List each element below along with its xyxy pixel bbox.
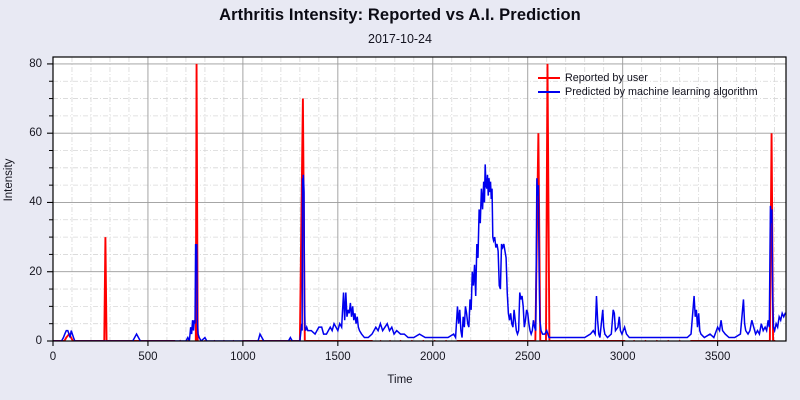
x-tick-label: 3000 <box>610 351 636 363</box>
plot-canvas <box>0 0 800 400</box>
x-tick-label: 1500 <box>325 351 351 363</box>
x-axis-label: Time <box>0 374 800 386</box>
y-tick-label: 40 <box>8 196 42 208</box>
x-tick-label: 2500 <box>515 351 541 363</box>
chart-figure: Arthritis Intensity: Reported vs A.I. Pr… <box>0 0 800 400</box>
legend-swatch-icon <box>538 77 560 79</box>
legend-label: Predicted by machine learning algorithm <box>565 86 758 98</box>
legend-swatch-icon <box>538 91 560 93</box>
chart-title: Arthritis Intensity: Reported vs A.I. Pr… <box>0 6 800 25</box>
y-tick-label: 20 <box>8 266 42 278</box>
y-tick-label: 0 <box>8 335 42 347</box>
x-tick-label: 0 <box>50 351 56 363</box>
x-tick-label: 1000 <box>230 351 256 363</box>
x-tick-label: 2000 <box>420 351 446 363</box>
x-tick-label: 500 <box>138 351 157 363</box>
x-tick-label: 3500 <box>705 351 731 363</box>
y-tick-label: 60 <box>8 127 42 139</box>
legend-item-predicted[interactable]: Predicted by machine learning algorithm <box>538 85 758 99</box>
chart-legend: Reported by userPredicted by machine lea… <box>538 71 758 99</box>
legend-item-reported[interactable]: Reported by user <box>538 71 758 85</box>
legend-label: Reported by user <box>565 72 648 84</box>
y-tick-label: 80 <box>8 58 42 70</box>
y-axis-label: Intensity <box>3 159 15 202</box>
plot-background <box>53 57 786 341</box>
chart-subtitle: 2017-10-24 <box>0 32 800 46</box>
